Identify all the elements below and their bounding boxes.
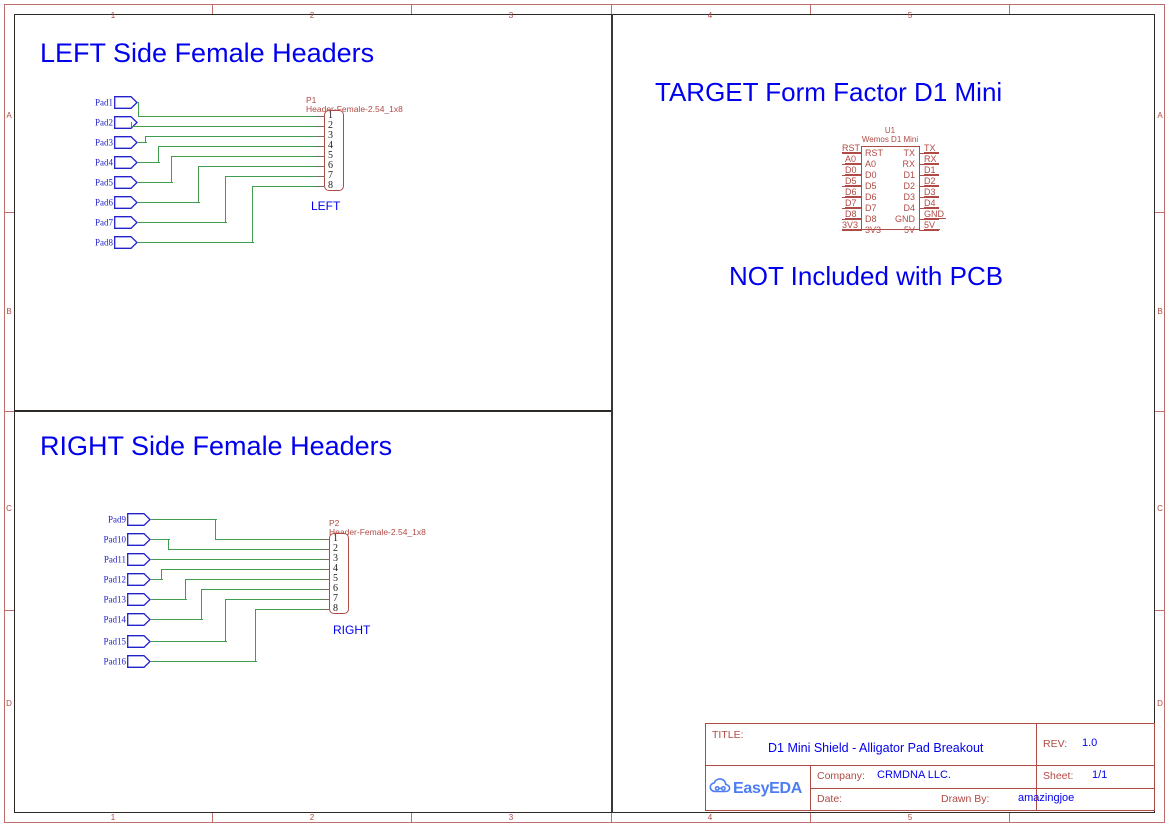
netport-pad11[interactable]: Pad11 (127, 553, 151, 566)
wire-pad4-horizontal (158, 146, 316, 147)
ruler-tick-col (1009, 813, 1010, 823)
connector-p2-lead (321, 549, 330, 550)
wire-pad10-horizontal (168, 549, 329, 550)
drawing-border (14, 14, 1155, 813)
netport-label: Pad12 (104, 575, 128, 584)
netport-label: Pad6 (95, 198, 114, 207)
wire-pad13-horizontal (185, 579, 329, 580)
easyeda-cloud-icon (709, 777, 731, 800)
netport-label: Pad1 (95, 98, 114, 107)
mcu-net-underline (924, 174, 939, 175)
ruler-tick-col (212, 813, 213, 823)
netport-pad4[interactable]: Pad4 (114, 156, 138, 169)
sheet-value: 1/1 (1092, 769, 1107, 782)
mcu-net-underline (924, 229, 940, 230)
wire-pad7-stub (138, 222, 227, 223)
netport-pad6[interactable]: Pad6 (114, 196, 138, 209)
mcu-pin-d0: D0 (865, 171, 877, 180)
netport-pad3[interactable]: Pad3 (114, 136, 138, 149)
mcu-lead-right (919, 230, 939, 231)
connector-p2-pin-8: 8 (333, 604, 338, 614)
ruler-tick-row (1155, 212, 1165, 213)
wire-pad9-horizontal (215, 539, 329, 540)
connector-p2-lead (321, 579, 330, 580)
connector-p1-lead (316, 136, 325, 137)
mcu-pin-d6: D6 (865, 193, 877, 202)
section-divider-vertical (611, 14, 613, 813)
wire-pad8-stub (138, 242, 254, 243)
title-label: TITLE: (712, 729, 744, 741)
connector-p1-pin-8: 8 (328, 181, 333, 191)
mcu-pin-rx: RX (880, 160, 915, 169)
wire-pad6-horizontal (198, 166, 316, 167)
connector-p1-lead (316, 186, 325, 187)
wire-pad3-horizontal (145, 136, 316, 137)
wire-pad15-stub (151, 641, 227, 642)
netport-pad15[interactable]: Pad15 (127, 635, 151, 648)
zone-label-row-d-right: D (1155, 700, 1165, 708)
connector-p2-name: RIGHT (333, 624, 370, 637)
wire-pad4-vertical (158, 146, 159, 163)
mcu-net-underline (924, 185, 939, 186)
mcu-net-underline (845, 163, 861, 164)
connector-p1-lead (316, 146, 325, 147)
mcu-pin-5v: 5V (880, 226, 915, 235)
netport-label: Pad3 (95, 138, 114, 147)
not-included-title: NOT Included with PCB (729, 262, 1003, 290)
wire-pad8-horizontal (252, 186, 316, 187)
wire-pad1-horizontal (138, 116, 316, 117)
mcu-pin-d7: D7 (865, 204, 877, 213)
netport-pad12[interactable]: Pad12 (127, 573, 151, 586)
wire-pad1-vertical (138, 102, 139, 117)
netport-label: Pad5 (95, 178, 114, 187)
wire-pad4-stub (138, 162, 160, 163)
mcu-pin-d5: D5 (865, 182, 877, 191)
netport-label: Pad9 (108, 515, 127, 524)
zone-label-col-3-bottom: 3 (491, 814, 531, 822)
sheet-label: Sheet: (1043, 770, 1073, 782)
zone-label-col-2-top: 2 (292, 12, 332, 20)
target-form-factor-title: TARGET Form Factor D1 Mini (655, 78, 1002, 106)
wire-pad13-stub (151, 599, 187, 600)
schematic-sheet: 1 2 3 4 5 1 2 3 4 5 A B C D A B C D LEFT… (0, 0, 1169, 827)
right-section-title: RIGHT Side Female Headers (40, 431, 392, 461)
netport-label: Pad7 (95, 218, 114, 227)
mcu-pin-d2: D2 (880, 182, 915, 191)
wire-pad16-stub (151, 661, 257, 662)
mcu-net-underline (845, 185, 861, 186)
ruler-tick-col (411, 813, 412, 823)
mcu-net-underline (845, 196, 861, 197)
wire-pad16-horizontal (255, 609, 329, 610)
wire-pad14-vertical (201, 589, 202, 620)
connector-p1-name: LEFT (311, 200, 340, 213)
netport-pad13[interactable]: Pad13 (127, 593, 151, 606)
zone-label-col-5-top: 5 (890, 12, 930, 20)
netport-pad8[interactable]: Pad8 (114, 236, 138, 249)
rev-value: 1.0 (1082, 737, 1097, 750)
zone-label-row-c-left: C (4, 505, 14, 513)
ruler-tick-col (611, 4, 612, 14)
wire-pad12-horizontal (161, 569, 329, 570)
wire-pad9-vertical (215, 519, 216, 540)
ruler-tick-row (4, 212, 14, 213)
ruler-tick-row (4, 610, 14, 611)
wire-pad5-stub (138, 182, 173, 183)
mcu-net-underline (842, 152, 862, 153)
mcu-pin-3v3: 3V3 (865, 226, 881, 235)
connector-p1-body (324, 110, 344, 191)
zone-label-col-3-top: 3 (491, 12, 531, 20)
netport-pad16[interactable]: Pad16 (127, 655, 151, 668)
mcu-net-underline (924, 196, 939, 197)
netport-label: Pad16 (104, 657, 128, 666)
zone-label-row-a-left: A (4, 112, 14, 120)
connector-p1-lead (316, 116, 325, 117)
mcu-net-underline (924, 207, 939, 208)
easyeda-wordmark: EasyEDA (733, 780, 802, 797)
netport-label: Pad15 (104, 637, 128, 646)
wire-pad5-vertical (171, 156, 172, 183)
connector-p1-footprint: Header-Female-2.54_1x8 (306, 104, 403, 114)
netport-label: Pad14 (104, 615, 128, 624)
title-block-hline (705, 765, 1155, 766)
wire-pad5-horizontal (171, 156, 316, 157)
zone-label-row-b-left: B (4, 308, 14, 316)
connector-p2-body (329, 533, 349, 614)
ruler-tick-col (411, 4, 412, 14)
connector-p1-lead (316, 166, 325, 167)
netport-pad5[interactable]: Pad5 (114, 176, 138, 189)
netport-label: Pad8 (95, 238, 114, 247)
connector-p1-lead (316, 156, 325, 157)
wire-pad12-vertical (161, 569, 162, 580)
mcu-net-underline (845, 207, 861, 208)
zone-label-row-d-left: D (4, 700, 14, 708)
connector-p2-lead (321, 589, 330, 590)
title-value: D1 Mini Shield - Alligator Pad Breakout (768, 741, 983, 755)
netport-label: Pad4 (95, 158, 114, 167)
mcu-pin-d8: D8 (865, 215, 877, 224)
zone-label-row-a-right: A (1155, 112, 1165, 120)
netport-pad14[interactable]: Pad14 (127, 613, 151, 626)
zone-label-col-4-bottom: 4 (690, 814, 730, 822)
ruler-tick-col (1009, 4, 1010, 14)
wire-pad14-horizontal (201, 589, 329, 590)
wire-pad6-stub (138, 202, 200, 203)
zone-label-col-1-bottom: 1 (93, 814, 133, 822)
wire-pad7-horizontal (225, 176, 316, 177)
wire-pad8-vertical (252, 186, 253, 243)
netport-label: Pad2 (95, 118, 114, 127)
netport-label: Pad13 (104, 595, 128, 604)
netport-pad1[interactable]: Pad1 (114, 96, 138, 109)
ruler-tick-col (611, 813, 612, 823)
connector-p1-lead (316, 126, 325, 127)
wire-pad9-stub (151, 519, 217, 520)
drawn-by-value: amazingjoe (1018, 792, 1074, 805)
netport-label: Pad11 (104, 555, 127, 564)
ruler-tick-col (810, 4, 811, 14)
mcu-net-underline (842, 229, 861, 230)
easyeda-logo: EasyEDA (709, 777, 802, 800)
wire-pad13-vertical (185, 579, 186, 600)
mcu-part-name: Wemos D1 Mini (855, 135, 925, 144)
ruler-tick-row (4, 411, 14, 412)
mcu-lead-left (842, 230, 862, 231)
title-block-hline (810, 788, 1155, 789)
zone-label-col-1-top: 1 (93, 12, 133, 20)
mcu-pin-gnd: GND (880, 215, 915, 224)
mcu-net-underline (845, 174, 861, 175)
mcu-pin-d4: D4 (880, 204, 915, 213)
wire-pad11-horizontal (151, 559, 329, 560)
drawn-by-label: Drawn By: (941, 793, 989, 805)
mcu-net-underline (924, 152, 939, 153)
zone-label-col-2-bottom: 2 (292, 814, 332, 822)
wire-pad7-vertical (225, 176, 226, 223)
zone-label-col-5-bottom: 5 (890, 814, 930, 822)
wire-pad15-vertical (225, 599, 226, 642)
zone-label-row-c-right: C (1155, 505, 1165, 513)
mcu-pin-d1: D1 (880, 171, 915, 180)
netport-pad10[interactable]: Pad10 (127, 533, 151, 546)
connector-p1-lead (316, 176, 325, 177)
connector-p2-lead (321, 599, 330, 600)
zone-label-col-4-top: 4 (690, 12, 730, 20)
ruler-tick-row (1155, 411, 1165, 412)
mcu-ref-designator: U1 (855, 126, 925, 135)
section-divider-horizontal (14, 410, 612, 412)
rev-label: REV: (1043, 738, 1067, 750)
title-block-vline (810, 765, 811, 811)
connector-p2-lead (321, 539, 330, 540)
ruler-tick-row (1155, 610, 1165, 611)
company-value: CRMDNA LLC. (877, 769, 951, 782)
wire-pad2-horizontal (131, 126, 316, 127)
connector-p2-lead (321, 559, 330, 560)
wire-pad14-stub (151, 619, 203, 620)
wire-pad16-vertical (255, 609, 256, 662)
mcu-pin-a0: A0 (865, 160, 876, 169)
mcu-pin-tx: TX (880, 149, 915, 158)
mcu-net-underline (924, 163, 939, 164)
left-section-title: LEFT Side Female Headers (40, 38, 374, 68)
company-label: Company: (817, 770, 865, 782)
mcu-net-underline (924, 218, 946, 219)
mcu-pin-d3: D3 (880, 193, 915, 202)
connector-p2-lead (321, 569, 330, 570)
ruler-tick-col (810, 813, 811, 823)
mcu-net-underline (845, 218, 861, 219)
wire-pad15-horizontal (225, 599, 329, 600)
netport-pad7[interactable]: Pad7 (114, 216, 138, 229)
ruler-tick-col (212, 4, 213, 14)
connector-p2-lead (321, 609, 330, 610)
wire-pad6-vertical (198, 166, 199, 203)
date-label: Date: (817, 793, 842, 805)
zone-label-row-b-right: B (1155, 308, 1165, 316)
netport-label: Pad10 (104, 535, 128, 544)
netport-pad9[interactable]: Pad9 (127, 513, 151, 526)
